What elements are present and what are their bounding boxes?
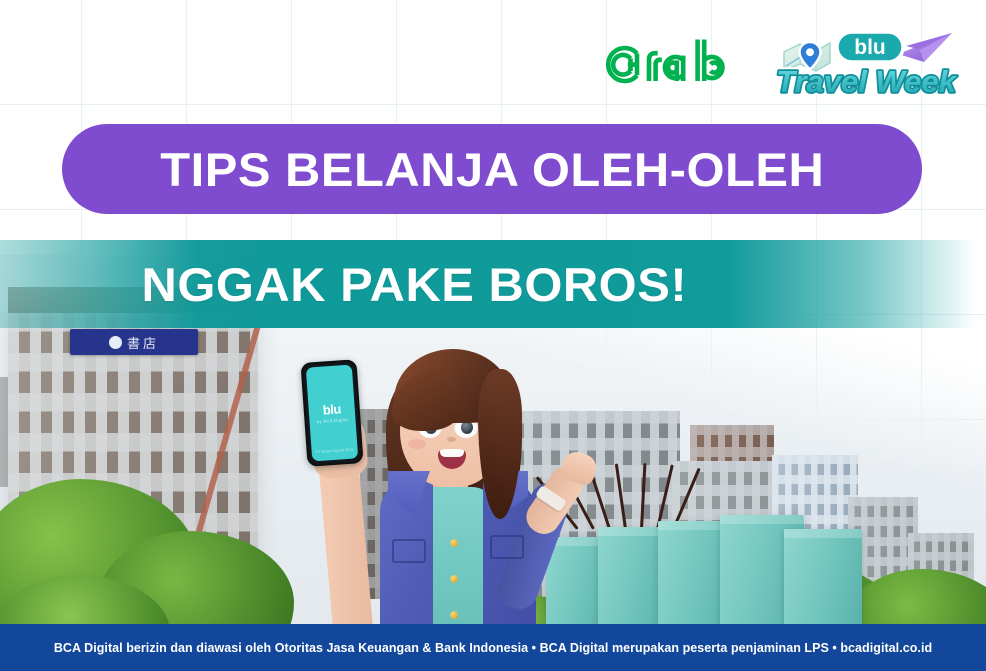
sign-logo-icon (109, 336, 122, 349)
svg-text:Travel Week: Travel Week (776, 64, 958, 99)
smartphone: blu by BCA Digital PT Bank Digital BCA (300, 359, 363, 467)
mouth (438, 449, 466, 469)
headline-line-2: NGGAK PAKE BOROS! (142, 257, 688, 312)
building-sign: 書店 (70, 329, 198, 355)
blu-travel-week-logo: blu Travel Week Travel Week Travel Week (766, 26, 966, 100)
jacket-pocket-right (490, 535, 524, 559)
blu-app-tagline: by BCA Digital (317, 417, 348, 424)
nose (447, 437, 456, 442)
footer-disclaimer-bar: BCA Digital berizin dan diawasi oleh Oto… (0, 624, 986, 671)
blu-badge: blu (837, 32, 903, 62)
paper-plane-icon (898, 33, 952, 62)
footer-disclaimer-text: BCA Digital berizin dan diawasi oleh Oto… (54, 641, 932, 655)
grab-logo (597, 33, 745, 95)
jacket-button (450, 611, 458, 619)
headline-line-1: TIPS BELANJA OLEH-OLEH (160, 142, 824, 197)
blu-app-logo: blu (322, 402, 341, 416)
phone-screen: blu by BCA Digital PT Bank Digital BCA (306, 365, 358, 462)
jacket-button (450, 539, 458, 547)
headline-pill-primary: TIPS BELANJA OLEH-OLEH (62, 124, 922, 214)
promo-banner: パシフィック 書店 (0, 0, 986, 671)
jacket-button (450, 575, 458, 583)
jacket-pocket-left (392, 539, 426, 563)
blu-app-footer-note: PT Bank Digital BCA (316, 448, 354, 455)
travel-week-wordmark: Travel Week Travel Week Travel Week (776, 64, 958, 99)
teeth (440, 449, 464, 457)
character-illustration: blu by BCA Digital PT Bank Digital BCA (300, 355, 690, 655)
headline-band-secondary: NGGAK PAKE BOROS! (0, 240, 986, 328)
blu-badge-label: blu (854, 36, 886, 59)
sign-text: 書店 (127, 333, 159, 352)
blush-left (408, 439, 426, 449)
